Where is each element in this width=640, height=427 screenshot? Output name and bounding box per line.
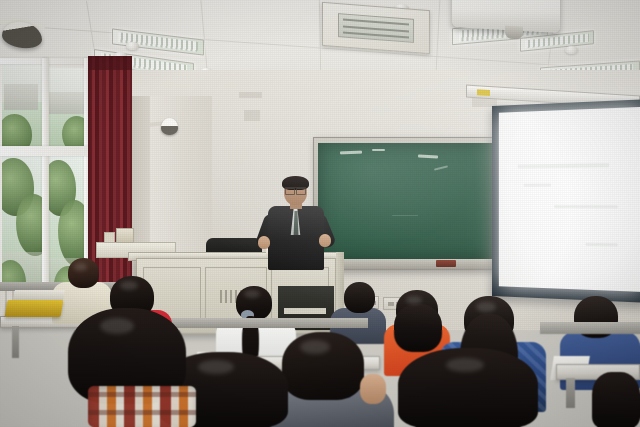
window-pane <box>48 68 84 146</box>
smoke-detector <box>565 46 578 54</box>
roller-label-tag <box>477 89 490 96</box>
blackboard-eraser[interactable] <box>436 260 456 267</box>
desk-row-right <box>540 322 640 334</box>
chalk-mark <box>340 151 362 155</box>
lecturer <box>258 178 334 270</box>
window-pane <box>2 156 42 302</box>
raised-hand <box>360 374 386 404</box>
blackboard <box>318 143 494 259</box>
student-front-right-head <box>592 372 640 427</box>
window-mullion <box>42 58 49 308</box>
wall-mark <box>239 92 262 98</box>
projection-screen-frame <box>492 99 640 303</box>
curtain-header <box>88 56 132 70</box>
long-hair <box>394 304 442 352</box>
student-front-far-right <box>398 348 538 427</box>
chalk-mark <box>392 215 418 216</box>
lecturer-right-hand <box>319 234 331 247</box>
window-pane <box>2 62 42 148</box>
eyeglasses-icon <box>285 187 306 192</box>
plaid-scarf <box>88 386 196 427</box>
chalk-mark <box>372 149 385 151</box>
ceiling-ac-unit <box>322 2 430 54</box>
chalk-mark <box>418 154 438 158</box>
desk-box-small <box>104 232 115 243</box>
desk-box <box>116 228 134 243</box>
desk-leg <box>12 326 19 358</box>
ac-grille <box>338 13 414 42</box>
slide-text-line <box>518 163 609 169</box>
wall-mark <box>244 110 260 121</box>
chalk-mark <box>434 165 448 170</box>
slide-text-line <box>585 243 617 247</box>
long-hair <box>592 372 640 427</box>
projector-lens <box>505 26 523 40</box>
blackboard-frame <box>313 137 499 270</box>
student-back-dark-top <box>330 282 386 338</box>
classroom-lecture-photo: EPSON <box>0 0 640 427</box>
desk-leg <box>566 378 575 408</box>
smoke-detector <box>126 42 139 50</box>
student-head <box>344 282 375 313</box>
slide-text-line <box>523 183 551 186</box>
wall-dome-camera-icon <box>161 118 178 135</box>
projection-screen-surface <box>499 107 640 292</box>
slide-text-line <box>554 205 618 208</box>
lecturer-left-hand <box>258 236 270 249</box>
